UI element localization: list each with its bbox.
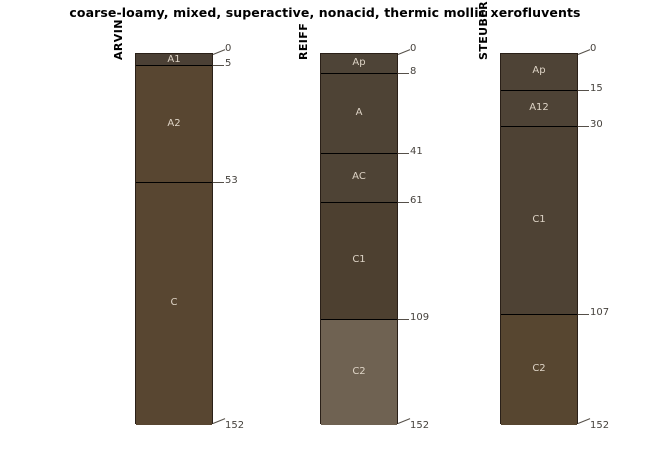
- depth-tick: [578, 90, 589, 91]
- horizon-label: A1: [136, 54, 212, 65]
- depth-tick: [578, 314, 589, 315]
- profile-name-label: REIFF: [297, 23, 310, 60]
- depth-label: 53: [225, 175, 238, 186]
- horizon-label: Ap: [321, 57, 397, 68]
- depth-tick: [213, 65, 224, 66]
- soil-horizon: Ap: [321, 54, 397, 74]
- depth-label: 152: [410, 420, 429, 431]
- depth-tick: [213, 182, 224, 183]
- depth-label: 0: [225, 43, 231, 54]
- profile-name-label: STEUBER: [477, 1, 490, 60]
- horizon-label: C1: [501, 214, 577, 225]
- chart-title: coarse-loamy, mixed, superactive, nonaci…: [0, 5, 650, 20]
- profile-name-label: ARVIN: [112, 19, 125, 60]
- soil-horizon: C: [136, 183, 212, 425]
- profile-column: ApAACC1C2: [320, 53, 398, 424]
- depth-tick: [398, 73, 409, 74]
- depth-label: 8: [410, 66, 416, 77]
- soil-horizon: C2: [321, 320, 397, 425]
- soil-horizon: Ap: [501, 54, 577, 91]
- soil-horizon: C2: [501, 315, 577, 425]
- horizon-label: A2: [136, 118, 212, 129]
- soil-horizon: C1: [321, 203, 397, 320]
- depth-tick: [213, 418, 225, 424]
- depth-tick: [398, 202, 409, 203]
- profile-column: A1A2C: [135, 53, 213, 424]
- soil-horizon: A12: [501, 91, 577, 128]
- depth-label: 109: [410, 312, 429, 323]
- horizon-label: Ap: [501, 65, 577, 76]
- depth-label: 152: [225, 420, 244, 431]
- soil-horizon: A: [321, 74, 397, 155]
- depth-tick: [398, 418, 410, 424]
- soil-horizon: C1: [501, 127, 577, 315]
- depth-label: 61: [410, 195, 423, 206]
- depth-label: 152: [590, 420, 609, 431]
- horizon-label: AC: [321, 171, 397, 182]
- horizon-label: C1: [321, 254, 397, 265]
- depth-label: 30: [590, 119, 603, 130]
- profile-column: ApA12C1C2: [500, 53, 578, 424]
- depth-tick: [578, 126, 589, 127]
- depth-tick: [578, 49, 590, 55]
- depth-tick: [398, 319, 409, 320]
- soil-horizon: A2: [136, 66, 212, 183]
- depth-label: 15: [590, 83, 603, 94]
- horizon-label: C2: [321, 366, 397, 377]
- depth-tick: [398, 49, 410, 55]
- depth-tick: [578, 418, 590, 424]
- depth-tick: [213, 49, 225, 55]
- soil-horizon: A1: [136, 54, 212, 66]
- soil-profile-figure: coarse-loamy, mixed, superactive, nonaci…: [0, 0, 650, 450]
- depth-label: 107: [590, 307, 609, 318]
- depth-label: 0: [590, 43, 596, 54]
- horizon-label: C2: [501, 363, 577, 374]
- horizon-label: A: [321, 107, 397, 118]
- horizon-label: A12: [501, 102, 577, 113]
- depth-label: 5: [225, 58, 231, 69]
- depth-label: 0: [410, 43, 416, 54]
- depth-label: 41: [410, 146, 423, 157]
- soil-horizon: AC: [321, 154, 397, 203]
- horizon-label: C: [136, 297, 212, 308]
- depth-tick: [398, 153, 409, 154]
